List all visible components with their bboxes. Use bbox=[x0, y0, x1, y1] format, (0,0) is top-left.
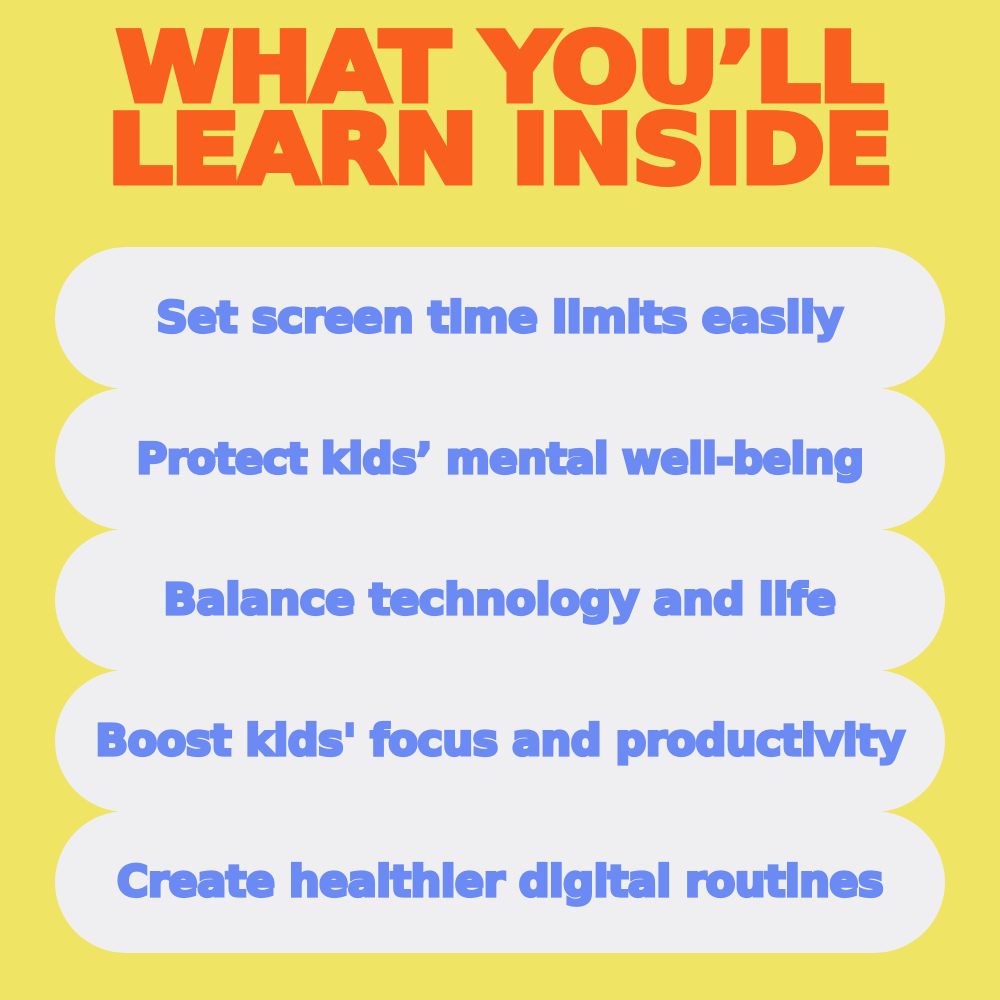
page-title-line-2: LEARN INSIDE bbox=[0, 108, 1000, 194]
list-item-label: Protect kids’ mental well-being bbox=[137, 438, 864, 480]
list-item-label: Boost kids' focus and productivity bbox=[95, 720, 904, 763]
list-item: Balance technology and life bbox=[55, 529, 945, 671]
list-item-label: Balance technology and life bbox=[164, 579, 836, 622]
list-item-label: Create healthier digital routines bbox=[117, 861, 883, 904]
list-item: Protect kids’ mental well-being bbox=[55, 388, 945, 530]
page-title: WHAT YOU’LL LEARN INSIDE bbox=[0, 26, 1000, 195]
list-item-label: Set screen time limits easily bbox=[157, 297, 843, 340]
list-item: Set screen time limits easily bbox=[55, 247, 945, 389]
list-item: Create healthier digital routines bbox=[55, 811, 945, 953]
benefits-list: Set screen time limits easily Protect ki… bbox=[55, 247, 945, 952]
list-item: Boost kids' focus and productivity bbox=[55, 670, 945, 812]
